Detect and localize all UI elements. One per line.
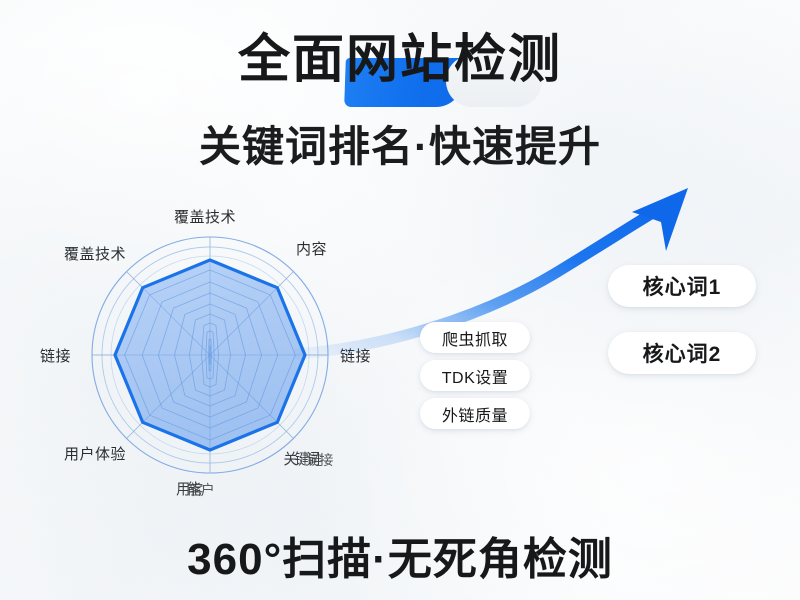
poster-canvas: 全面网站检测 关键词排名·快速提升 bbox=[0, 0, 800, 600]
feature-pill-backlink[interactable]: 外链质量 bbox=[420, 398, 530, 429]
keyword-pill-2[interactable]: 核心词2 bbox=[608, 332, 756, 374]
feature-pill-tdk-label: TDK设置 bbox=[442, 364, 509, 388]
page-title-text: 全面网站检测 bbox=[238, 34, 562, 86]
keyword-pill-2-label: 核心词2 bbox=[643, 338, 722, 368]
feature-pill-backlink-label: 外链质量 bbox=[442, 402, 508, 426]
radar-label-top-right: 内容 bbox=[296, 238, 327, 259]
radar-label-right: 链接 bbox=[340, 345, 371, 366]
radar-label-bottom-right-ghost: 链接 bbox=[308, 449, 331, 469]
feature-pill-tdk[interactable]: TDK设置 bbox=[420, 360, 530, 391]
growth-arrow-head bbox=[632, 188, 688, 251]
radar-label-bottom-right: 关键词链接 bbox=[284, 448, 331, 469]
radar-label-bottom-left: 用户体验 bbox=[64, 443, 126, 464]
headline-block: 全面网站检测 bbox=[0, 34, 800, 86]
feature-pill-crawl[interactable]: 爬虫抓取 bbox=[420, 322, 530, 353]
keyword-pill-1[interactable]: 核心词1 bbox=[608, 265, 756, 307]
page-title: 全面网站检测 bbox=[238, 34, 562, 86]
keyword-pill-1-label: 核心词1 bbox=[643, 271, 722, 301]
radar-label-bottom: 用能客户 bbox=[176, 478, 212, 499]
radar-label-top-left: 覆盖技术 bbox=[64, 243, 126, 264]
feature-pill-crawl-label: 爬虫抓取 bbox=[442, 326, 508, 350]
radar-inner-spokes bbox=[117, 262, 303, 448]
footer-tagline: 360°扫描·无死角检测 bbox=[0, 523, 800, 587]
radar-label-bottom-ghost: 客户 bbox=[189, 479, 212, 499]
radar-label-left: 链接 bbox=[40, 345, 71, 366]
radar-label-top: 覆盖技术 bbox=[174, 206, 236, 227]
radar-chart: 覆盖技术 内容 链接 关键词链接 用能客户 用户体验 链接 覆盖技术 bbox=[22, 190, 412, 520]
page-subtitle: 关键词排名·快速提升 bbox=[0, 113, 800, 174]
